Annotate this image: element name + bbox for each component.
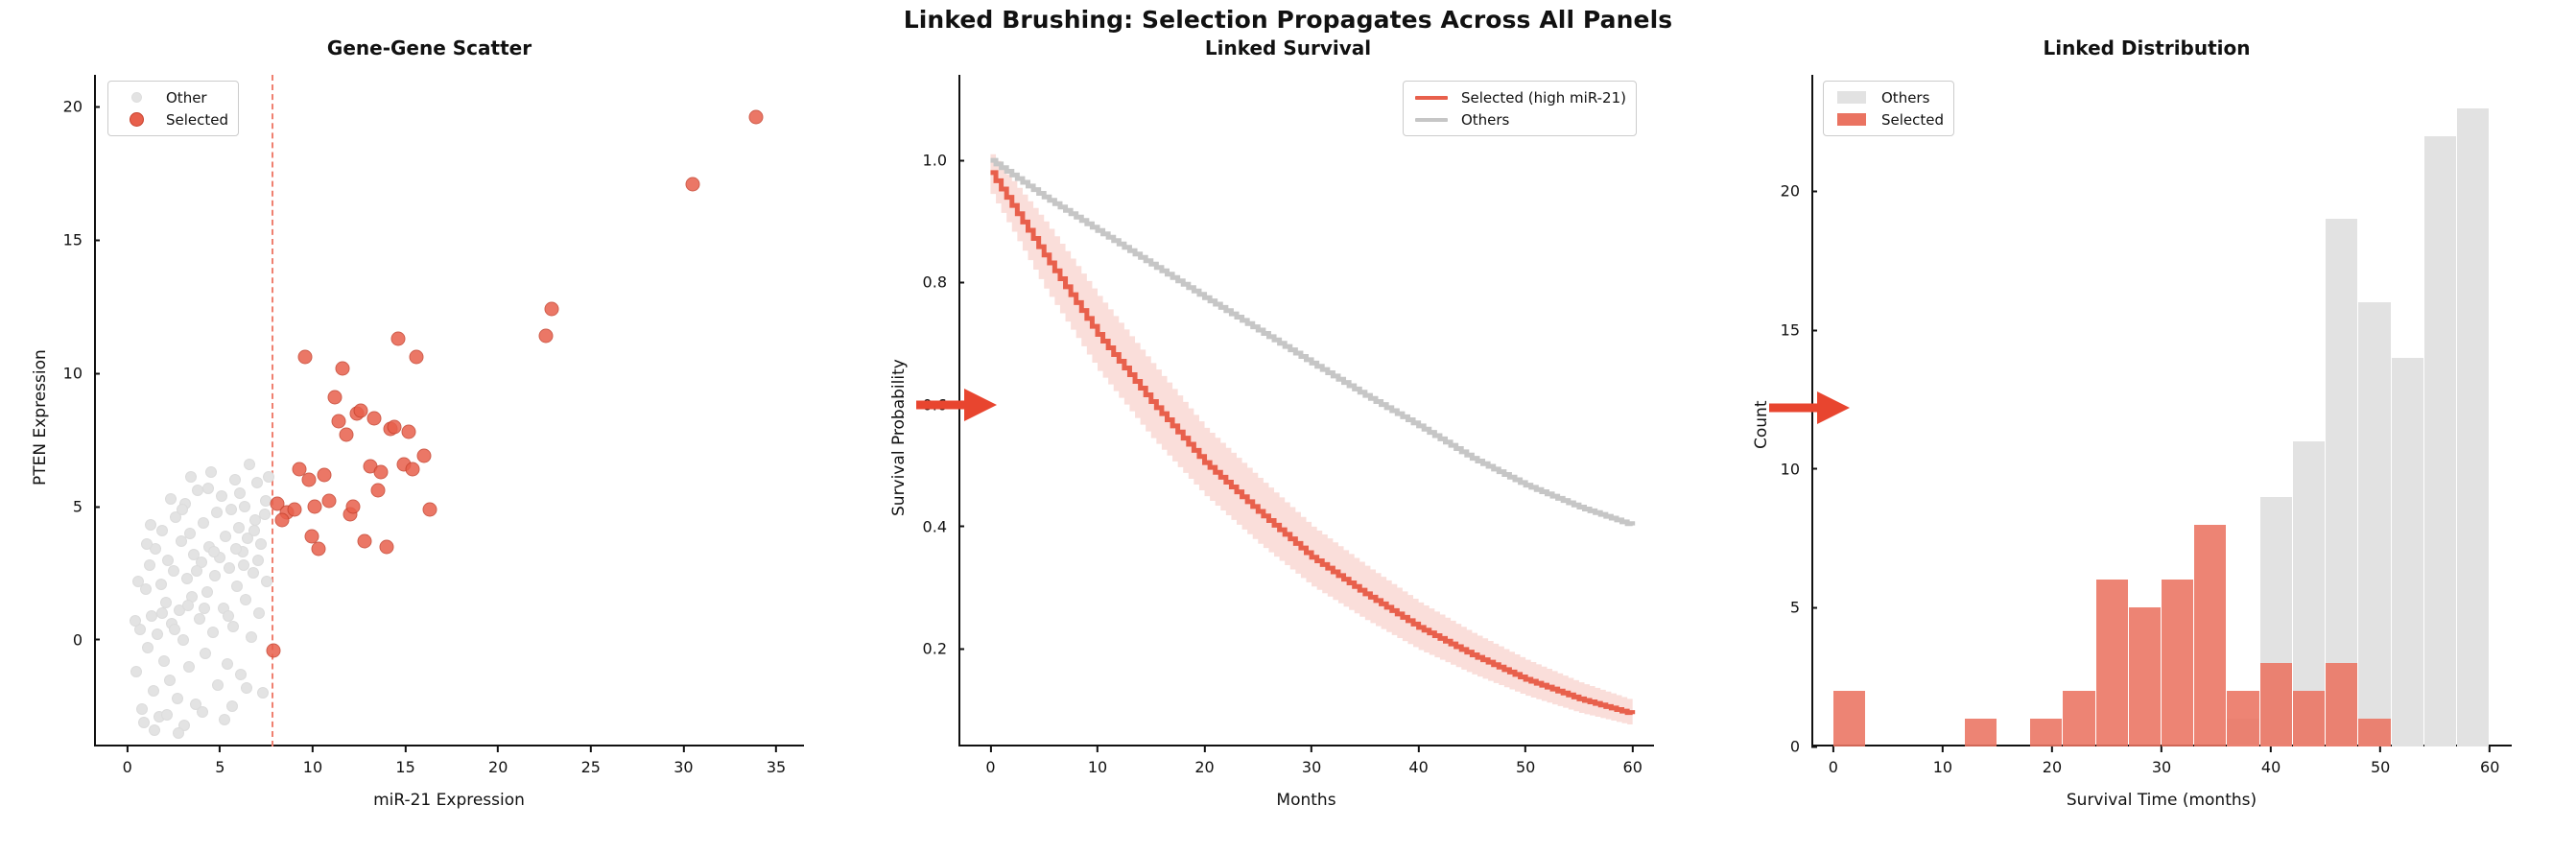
p3-xticks-label: 0 [1829, 746, 1838, 776]
panel3-selection-arrow-icon [1767, 386, 1854, 430]
scatter-point-other [148, 685, 159, 697]
scatter-point-selected [305, 529, 319, 543]
panel2-selection-arrow-icon [914, 383, 1001, 427]
panel2-y-axis-label: Survival Probability [889, 359, 909, 516]
p2-xticks-label: 0 [985, 746, 995, 776]
panel2-legend: Selected (high miR-21)Others [1403, 81, 1637, 136]
scatter-point-other [156, 525, 168, 536]
legend-entry: Other [116, 87, 228, 107]
scatter-point-selected [275, 512, 290, 527]
scatter-point-other [194, 613, 205, 625]
scatter-point-other [144, 559, 155, 571]
scatter-point-other [136, 703, 148, 715]
scatter-point-other [255, 538, 267, 550]
scatter-point-selected [370, 484, 385, 498]
scatter-point-other [164, 675, 176, 686]
scatter-point-other [225, 504, 237, 515]
scatter-point-other [261, 576, 272, 587]
histogram-bar-selected [2063, 691, 2094, 746]
p2-xticks-label: 40 [1408, 746, 1428, 776]
legend-label: Selected [166, 111, 228, 129]
scatter-point-other [185, 471, 197, 483]
scatter-point-other [212, 679, 224, 691]
p3-yticks-label: 15 [1781, 321, 1811, 340]
p1-yticks-label: 5 [73, 498, 94, 516]
line-swatch-icon [1411, 118, 1452, 122]
p2-xticks-label: 10 [1088, 746, 1107, 776]
scatter-point-other [248, 525, 260, 536]
panel1-legend: OtherSelected [107, 81, 239, 136]
dot-swatch-icon [116, 92, 156, 103]
scatter-point-other [155, 579, 167, 590]
scatter-point-selected [358, 534, 372, 549]
p1-xticks-label: 0 [123, 746, 132, 776]
scatter-point-selected [339, 428, 353, 442]
scatter-point-selected [307, 500, 321, 514]
scatter-point-other [152, 628, 163, 640]
p1-yticks-label: 15 [63, 231, 94, 249]
p3-xticks-label: 20 [2043, 746, 2062, 776]
legend-entry: Selected (high miR-21) [1411, 87, 1626, 107]
scatter-point-other [156, 607, 168, 619]
histogram-bar-selected [2129, 607, 2161, 746]
p1-yticks-label: 0 [73, 630, 94, 649]
scatter-point-other [251, 477, 263, 488]
scatter-point-other [184, 528, 196, 539]
p2-xticks-label: 50 [1516, 746, 1535, 776]
scatter-point-selected [311, 542, 325, 557]
scatter-point-other [177, 634, 189, 646]
p3-yticks-label: 5 [1790, 599, 1811, 617]
scatter-point-other [142, 642, 154, 653]
scatter-point-other [168, 565, 179, 577]
p2-yticks-label: 1.0 [923, 152, 958, 170]
scatter-point-other [223, 610, 234, 622]
scatter-point-other [198, 517, 209, 529]
scatter-point-other [173, 727, 184, 739]
figure-root: Linked Brushing: Selection Propagates Ac… [0, 0, 2576, 853]
scatter-point-other [165, 493, 177, 505]
scatter-point-other [207, 627, 219, 638]
scatter-point-other [224, 562, 235, 574]
scatter-point-other [183, 661, 195, 673]
scatter-point-other [241, 682, 252, 694]
histogram-bar-selected [1965, 719, 1997, 746]
panel1-plot-area [94, 75, 804, 746]
p2-xticks-label: 30 [1302, 746, 1321, 776]
p1-xticks-label: 35 [767, 746, 786, 776]
scatter-point-other [149, 724, 160, 736]
scatter-point-other [177, 504, 188, 515]
p2-yticks-label: 0.8 [923, 273, 958, 292]
panel2-x-axis-label: Months [958, 791, 1654, 810]
histogram-bar-selected [2227, 691, 2258, 746]
p2-xticks-label: 60 [1623, 746, 1642, 776]
scatter-point-other [263, 471, 274, 483]
p1-yticks-label: 20 [63, 98, 94, 116]
scatter-point-selected [267, 644, 281, 658]
histogram-bar-selected [2326, 663, 2357, 746]
scatter-point-other [209, 570, 221, 581]
dot-swatch-icon [116, 112, 156, 127]
scatter-point-other [158, 655, 170, 667]
scatter-point-other [252, 555, 264, 566]
legend-entry: Selected [116, 109, 228, 130]
scatter-point-other [253, 607, 265, 619]
scatter-point-other [130, 615, 141, 627]
scatter-point-selected [388, 419, 402, 434]
histogram-bar-selected [2096, 580, 2128, 746]
panel3-axes: 05101520 0102030405060 Survival Time (mo… [1811, 75, 2512, 746]
scatter-point-other [197, 706, 208, 718]
p2-xticks-label: 20 [1194, 746, 1214, 776]
panel2-title: Linked Survival [859, 36, 1717, 59]
scatter-point-other [208, 546, 220, 557]
scatter-point-selected [380, 539, 394, 554]
scatter-point-other [200, 648, 211, 659]
legend-label: Others [1881, 89, 1929, 107]
scatter-point-other [220, 531, 231, 542]
scatter-point-other [234, 487, 246, 499]
scatter-point-selected [354, 404, 368, 418]
scatter-point-other [226, 700, 238, 712]
panel3-plot-area [1811, 75, 2512, 746]
p3-xticks-label: 60 [2480, 746, 2499, 776]
histogram-bar-selected [2194, 525, 2226, 746]
histogram-bar-selected [2030, 719, 2062, 746]
scatter-point-other [169, 624, 180, 635]
scatter-point-other [145, 519, 156, 531]
p3-yticks-label: 0 [1790, 738, 1811, 756]
p1-xticks-label: 15 [395, 746, 414, 776]
p1-xticks-label: 20 [488, 746, 508, 776]
panel1-title: Gene-Gene Scatter [0, 36, 859, 59]
p3-xticks-label: 30 [2152, 746, 2171, 776]
p2-yticks-label: 0.2 [923, 640, 958, 658]
scatter-point-other [182, 600, 194, 611]
scatter-point-other [216, 490, 227, 502]
scatter-point-other [201, 586, 213, 598]
scatter-point-selected [416, 449, 431, 463]
histogram-bar-selected [1833, 691, 1865, 746]
line-swatch-icon [1411, 96, 1452, 100]
histogram-bar-selected [2162, 580, 2193, 746]
p1-xticks-label: 10 [303, 746, 322, 776]
histogram-bar-selected [2293, 691, 2325, 746]
panel-linked-distribution: Linked Distribution 05101520 01020304050… [1717, 0, 2576, 853]
panel3-title: Linked Distribution [1717, 36, 2576, 59]
scatter-point-other [227, 621, 239, 632]
scatter-point-other [235, 669, 247, 680]
scatter-point-other [244, 459, 255, 470]
scatter-point-other [141, 538, 153, 550]
scatter-point-other [205, 466, 217, 478]
scatter-point-other [191, 565, 202, 577]
scatter-point-selected [406, 462, 420, 477]
panel-linked-survival: Linked Survival 0.20.40.60.81.0 01020304… [859, 0, 1717, 853]
p3-xticks-label: 40 [2261, 746, 2281, 776]
panel-gene-gene-scatter: Gene-Gene Scatter 05101520 0510152025303… [0, 0, 859, 853]
scatter-point-selected [322, 494, 337, 509]
scatter-point-other [239, 501, 250, 512]
legend-entry: Others [1832, 87, 1944, 107]
scatter-point-selected [545, 302, 559, 317]
p2-yticks-label: 0.4 [923, 517, 958, 535]
histogram-bar-others [2392, 358, 2423, 746]
scatter-point-other [222, 658, 233, 670]
p1-xticks-label: 5 [215, 746, 225, 776]
p1-yticks-label: 10 [63, 365, 94, 383]
p1-xticks-label: 30 [674, 746, 693, 776]
panel2-survival-curves [958, 75, 1654, 746]
scatter-point-selected [410, 350, 424, 365]
scatter-point-selected [390, 332, 405, 346]
scatter-point-selected [332, 415, 346, 429]
scatter-point-other [231, 581, 243, 592]
scatter-point-other [176, 535, 187, 547]
scatter-point-selected [366, 412, 381, 426]
p3-yticks-label: 20 [1781, 182, 1811, 201]
patch-swatch-icon [1832, 113, 1872, 126]
histogram-bar-selected [2260, 663, 2292, 746]
scatter-point-other [229, 474, 241, 486]
legend-label: Selected (high miR-21) [1461, 89, 1626, 107]
scatter-point-other [259, 509, 271, 520]
p3-yticks-label: 10 [1781, 460, 1811, 478]
panel3-legend: OthersSelected [1823, 81, 1954, 136]
scatter-point-selected [748, 110, 763, 125]
scatter-point-other [199, 603, 210, 614]
survival-confidence-band [990, 154, 1632, 726]
scatter-point-selected [374, 464, 389, 479]
scatter-point-selected [335, 361, 349, 375]
scatter-point-other [230, 543, 242, 555]
histogram-bar-selected [2358, 719, 2390, 746]
panel1-axes: 05101520 05101520253035 miR-21 Expressio… [94, 75, 804, 746]
scatter-point-selected [346, 500, 361, 514]
panel3-x-axis-label: Survival Time (months) [1811, 791, 2512, 810]
scatter-point-other [138, 717, 150, 728]
scatter-point-selected [328, 391, 343, 405]
p3-xticks-label: 50 [2371, 746, 2390, 776]
scatter-point-other [219, 714, 230, 725]
scatter-point-other [248, 567, 259, 579]
scatter-point-selected [298, 350, 313, 365]
scatter-point-other [246, 631, 257, 643]
scatter-point-other [172, 693, 183, 704]
legend-label: Selected [1881, 111, 1944, 129]
histogram-bar-others [2457, 108, 2489, 746]
scatter-point-selected [402, 425, 416, 439]
panel2-axes: 0.20.40.60.81.0 0102030405060 Months Sur… [958, 75, 1654, 746]
scatter-point-other [161, 709, 173, 721]
histogram-bar-others [2424, 136, 2456, 746]
legend-label: Others [1461, 111, 1509, 129]
scatter-point-other [257, 687, 269, 699]
scatter-point-other [240, 594, 251, 605]
scatter-point-selected [317, 467, 331, 482]
panel1-x-axis-label: miR-21 Expression [94, 791, 804, 810]
legend-entry: Others [1411, 109, 1626, 130]
patch-swatch-icon [1832, 91, 1872, 104]
scatter-point-other [211, 507, 223, 518]
scatter-point-selected [686, 177, 700, 191]
scatter-point-other [130, 666, 142, 677]
panel1-y-axis-label: PTEN Expression [31, 349, 50, 486]
histogram-bar-others [2358, 302, 2390, 746]
scatter-point-selected [287, 502, 301, 516]
legend-label: Other [166, 89, 207, 107]
p1-xticks-label: 25 [581, 746, 601, 776]
scatter-point-other [238, 559, 249, 571]
scatter-point-other [202, 483, 214, 494]
scatter-point-other [233, 522, 245, 533]
scatter-point-selected [302, 473, 317, 487]
scatter-point-other [181, 573, 193, 584]
scatter-point-selected [422, 502, 437, 516]
scatter-point-selected [539, 329, 554, 344]
p3-xticks-label: 10 [1933, 746, 1952, 776]
legend-entry: Selected [1832, 109, 1944, 130]
survival-curve-selected [990, 173, 1632, 714]
scatter-point-other [132, 576, 144, 587]
